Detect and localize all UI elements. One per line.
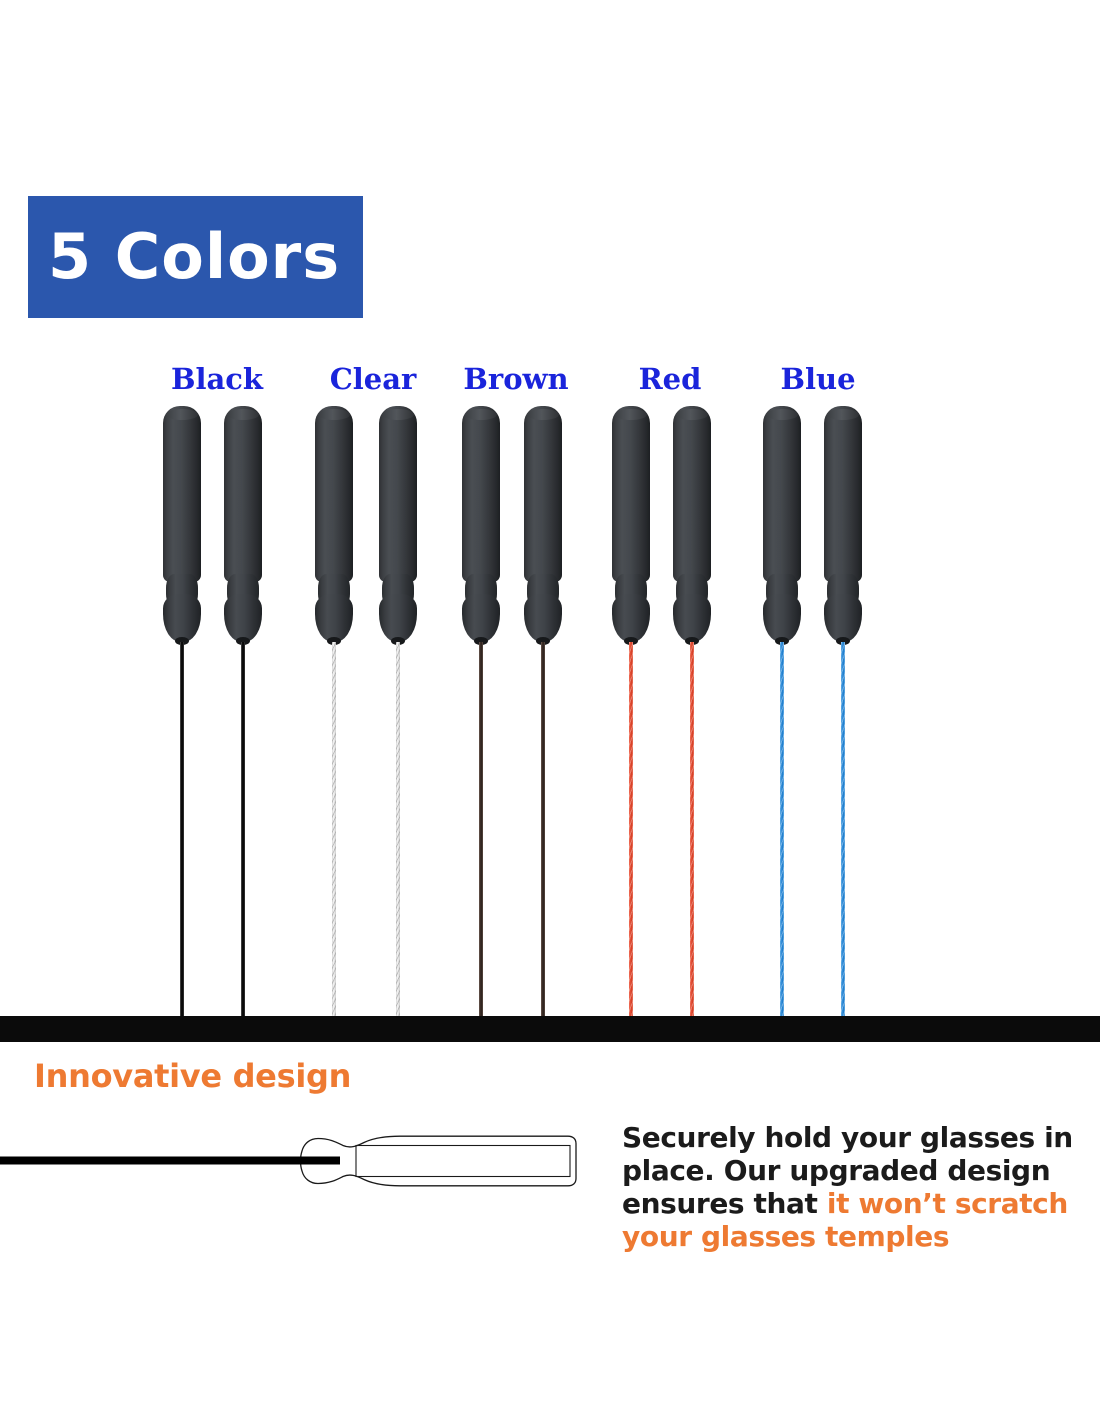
rubber-grip <box>673 406 711 642</box>
rubber-grip <box>524 406 562 642</box>
grip-body <box>163 406 201 582</box>
grip-bulb <box>379 594 417 642</box>
product-infographic: 5 Colors Black Clear Brown Red Blue <box>0 0 1100 1422</box>
retainer-cord <box>629 642 633 1023</box>
retainer-cord <box>180 642 184 1023</box>
retainer-product-group <box>0 0 1100 1020</box>
grip-body <box>673 406 711 582</box>
grip-bulb <box>224 594 262 642</box>
rubber-grip <box>462 406 500 642</box>
rubber-grip <box>163 406 201 642</box>
grip-bulb <box>673 594 711 642</box>
retainer-cord <box>841 642 845 1023</box>
retainer-cord <box>479 642 483 1023</box>
grip-bulb <box>612 594 650 642</box>
product-description: Securely hold your glasses in place. Our… <box>622 1121 1074 1253</box>
grip-outline <box>301 1136 577 1186</box>
rubber-grip <box>612 406 650 642</box>
grip-body <box>379 406 417 582</box>
grip-bulb <box>315 594 353 642</box>
retainer-cord <box>241 642 245 1023</box>
grip-bulb <box>763 594 801 642</box>
retainer-cord <box>780 642 784 1023</box>
retainer-cross-section-diagram <box>0 1110 600 1210</box>
grip-body <box>315 406 353 582</box>
rubber-grip <box>315 406 353 642</box>
grip-body <box>763 406 801 582</box>
grip-body <box>824 406 862 582</box>
grip-bulb <box>824 594 862 642</box>
rubber-grip <box>824 406 862 642</box>
grip-body <box>224 406 262 582</box>
grip-body <box>612 406 650 582</box>
retainer-cord <box>332 642 336 1023</box>
innovative-design-heading: Innovative design <box>34 1057 351 1095</box>
grip-bulb <box>462 594 500 642</box>
retainer-cord <box>690 642 694 1023</box>
grip-bulb <box>524 594 562 642</box>
retainer-cord <box>396 642 400 1023</box>
grip-body <box>524 406 562 582</box>
section-divider-bar <box>0 1016 1100 1042</box>
grip-bulb <box>163 594 201 642</box>
rubber-grip <box>379 406 417 642</box>
inner-sleeve-outline <box>356 1146 570 1177</box>
diagram-cord <box>0 1157 340 1165</box>
retainer-cord <box>541 642 545 1023</box>
grip-body <box>462 406 500 582</box>
rubber-grip <box>224 406 262 642</box>
rubber-grip <box>763 406 801 642</box>
